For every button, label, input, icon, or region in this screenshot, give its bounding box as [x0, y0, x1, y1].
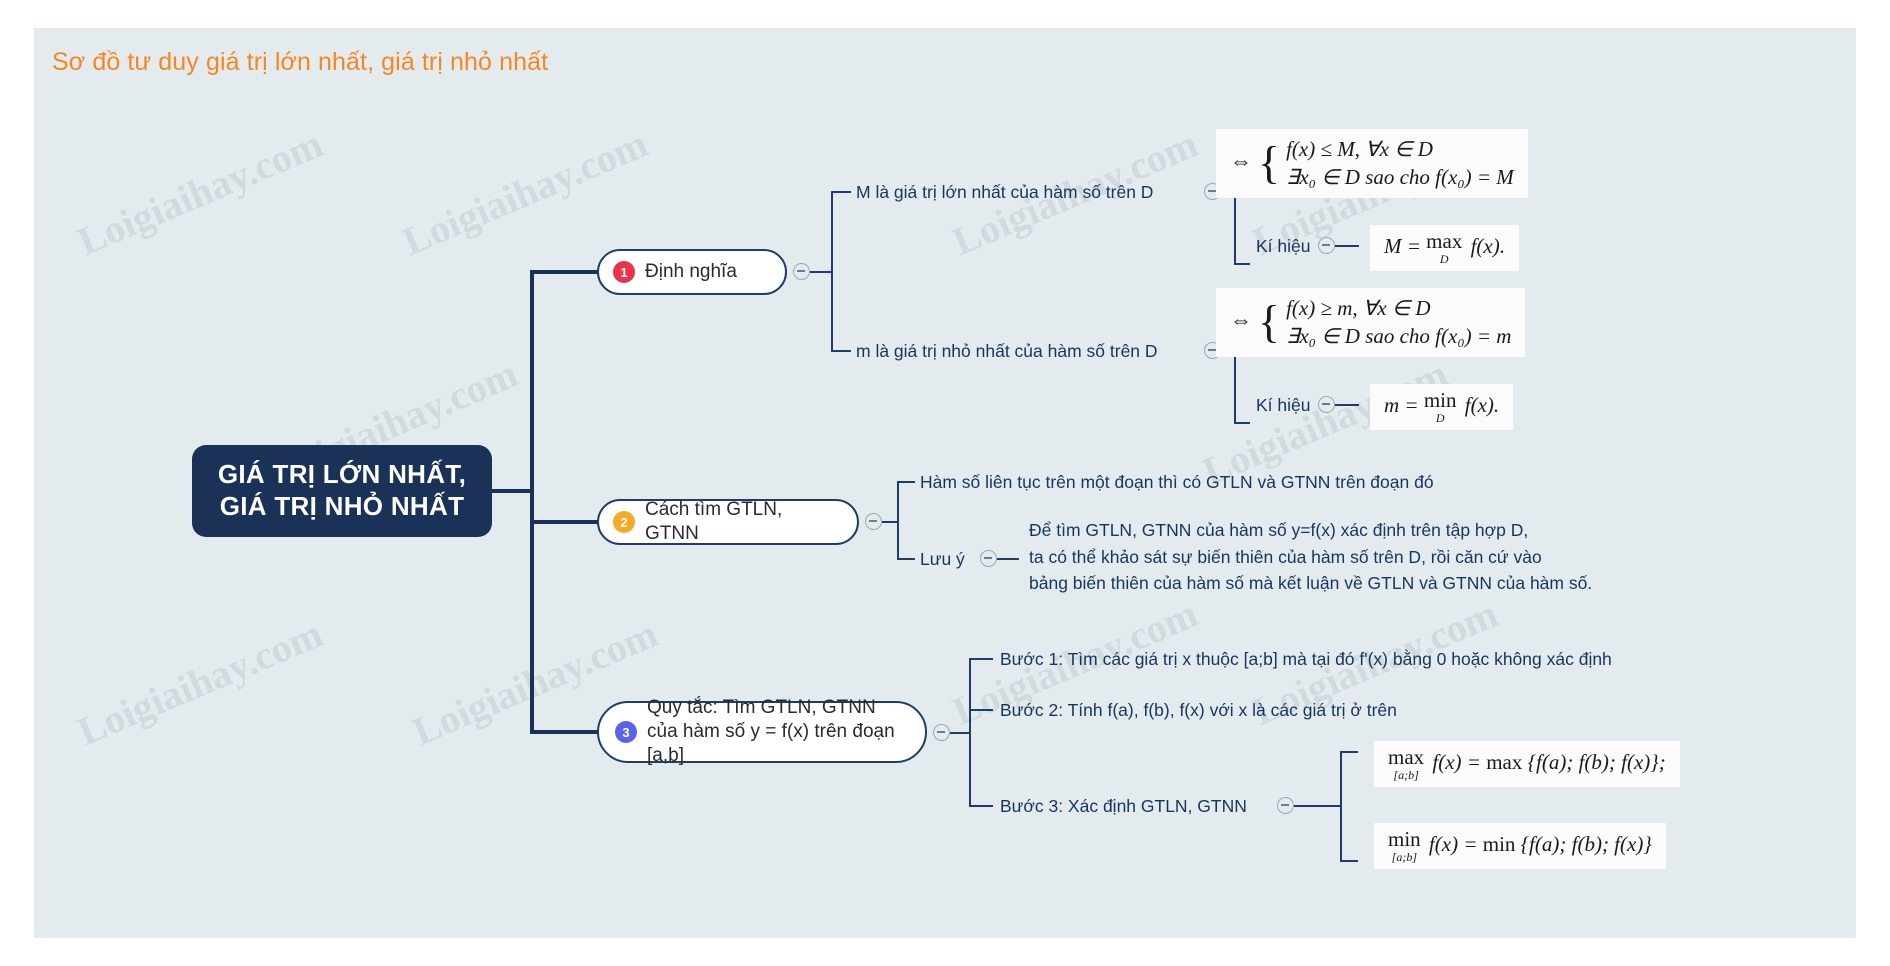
- trunk-to-branch-3: [530, 730, 600, 734]
- page-title: Sơ đồ tư duy giá trị lớn nhất, giá trị n…: [52, 48, 548, 77]
- branch-node-rule[interactable]: 3 Quy tắc: Tìm GTLN, GTNN của hàm số y =…: [597, 701, 927, 763]
- central-node[interactable]: GIÁ TRỊ LỚN NHẤT, GIÁ TRỊ NHỎ NHẤT: [192, 445, 492, 537]
- collapse-knob-icon[interactable]: [1277, 797, 1294, 814]
- watermark: Loigiaihay.com: [71, 120, 330, 265]
- connector: [810, 271, 832, 273]
- branch-badge-1: 1: [613, 261, 635, 283]
- formula-min-notation: m = minD f(x).: [1370, 384, 1513, 430]
- connector: [831, 191, 851, 193]
- collapse-knob-icon[interactable]: [933, 724, 950, 741]
- trunk-stub: [492, 489, 532, 493]
- formula-min-definition: ⇔ { f(x) ≥ m, ∀x ∈ D ∃x₀ ∈ D sao cho f(x…: [1216, 288, 1525, 357]
- formula-row: f(x) ≥ m, ∀x ∈ D: [1286, 294, 1511, 322]
- connector: [950, 732, 970, 734]
- collapse-knob-icon[interactable]: [1318, 396, 1335, 413]
- branch-node-method[interactable]: 2 Cách tìm GTLN, GTNN: [597, 499, 859, 545]
- leaf-min-notation-label: Kí hiệu: [1256, 393, 1310, 418]
- page-root: Loigiaihay.com Loigiaihay.com Loigiaihay…: [0, 0, 1890, 966]
- leaf-min-statement: m là giá trị nhỏ nhất của hàm số trên D: [856, 339, 1158, 364]
- connector: [831, 192, 833, 352]
- formula-row: ∃x₀ ∈ D sao cho f(x₀) = m: [1286, 322, 1511, 350]
- leaf-method-item1: Hàm số liên tục trên một đoạn thì có GTL…: [920, 470, 1434, 495]
- connector: [969, 659, 971, 806]
- watermark: Loigiaihay.com: [71, 610, 330, 755]
- branch-badge-2: 2: [613, 511, 635, 533]
- formula-interval: [a;b]: [1393, 769, 1418, 781]
- leaf-rule-step3: Bước 3: Xác định GTLN, GTNN: [1000, 794, 1247, 819]
- leaf-rule-step1: Bước 1: Tìm các giá trị x thuộc [a;b] mà…: [1000, 647, 1612, 672]
- connector: [831, 350, 851, 352]
- formula-row: ∃x₀ ∈ D sao cho f(x₀) = M: [1286, 163, 1514, 191]
- formula-row: f(x) ≤ M, ∀x ∈ D: [1286, 135, 1514, 163]
- leaf-max-notation-label: Kí hiệu: [1256, 234, 1310, 259]
- connector: [969, 709, 993, 711]
- formula-interval: [a;b]: [1392, 851, 1417, 863]
- formula-text: m = minD f(x).: [1384, 393, 1499, 417]
- leaf-note-label: Lưu ý: [920, 547, 965, 572]
- leaf-note-text: Để tìm GTLN, GTNN của hàm số y=f(x) xác …: [1029, 517, 1592, 597]
- connector: [969, 658, 993, 660]
- mindmap-canvas: Loigiaihay.com Loigiaihay.com Loigiaihay…: [34, 28, 1856, 938]
- collapse-knob-icon[interactable]: [980, 550, 997, 567]
- connector: [1234, 263, 1250, 265]
- connector: [897, 481, 915, 483]
- connector: [1234, 422, 1250, 424]
- leaf-max-statement: M là giá trị lớn nhất của hàm số trên D: [856, 180, 1153, 205]
- connector: [882, 521, 898, 523]
- formula-max-notation: M = maxD f(x).: [1370, 225, 1519, 271]
- connector: [1340, 860, 1358, 862]
- collapse-knob-icon[interactable]: [865, 513, 882, 530]
- formula-max-definition: ⇔ { f(x) ≤ M, ∀x ∈ D ∃x₀ ∈ D sao cho f(x…: [1216, 129, 1528, 198]
- formula-rule-min: min[a;b] f(x) = min {f(a); f(b); f(x)}: [1374, 823, 1666, 869]
- central-node-line2: GIÁ TRỊ NHỎ NHẤT: [220, 491, 465, 523]
- connector: [1294, 805, 1310, 807]
- connector: [1340, 751, 1358, 753]
- branch-badge-3: 3: [615, 721, 637, 743]
- connector: [897, 482, 899, 560]
- connector: [897, 558, 915, 560]
- formula-text: M = maxD f(x).: [1384, 234, 1505, 258]
- formula-text: max[a;b] f(x) = max {f(a); f(b); f(x)};: [1388, 750, 1666, 774]
- trunk-to-branch-1: [530, 270, 600, 274]
- central-node-line1: GIÁ TRỊ LỚN NHẤT,: [218, 459, 466, 491]
- branch-label-rule: Quy tắc: Tìm GTLN, GTNN của hàm số y = f…: [647, 696, 903, 769]
- iff-symbol: ⇔: [1230, 307, 1252, 332]
- collapse-knob-icon[interactable]: [793, 263, 810, 280]
- formula-rule-max: max[a;b] f(x) = max {f(a); f(b); f(x)};: [1374, 741, 1680, 787]
- branch-node-definition[interactable]: 1 Định nghĩa: [597, 249, 787, 295]
- iff-symbol: ⇔: [1230, 148, 1252, 173]
- watermark: Loigiaihay.com: [396, 120, 655, 265]
- connector: [997, 558, 1019, 560]
- leaf-rule-step2: Bước 2: Tính f(a), f(b), f(x) với x là c…: [1000, 698, 1397, 723]
- trunk-spine: [530, 272, 534, 734]
- connector: [1335, 245, 1359, 247]
- connector: [1309, 805, 1341, 807]
- formula-text: min[a;b] f(x) = min {f(a); f(b); f(x)}: [1388, 832, 1652, 856]
- branch-label-definition: Định nghĩa: [645, 260, 737, 284]
- branch-label-method: Cách tìm GTLN, GTNN: [645, 498, 835, 547]
- connector: [1335, 404, 1359, 406]
- trunk-to-branch-2: [530, 520, 600, 524]
- connector: [969, 805, 993, 807]
- connector: [1340, 752, 1342, 862]
- collapse-knob-icon[interactable]: [1318, 237, 1335, 254]
